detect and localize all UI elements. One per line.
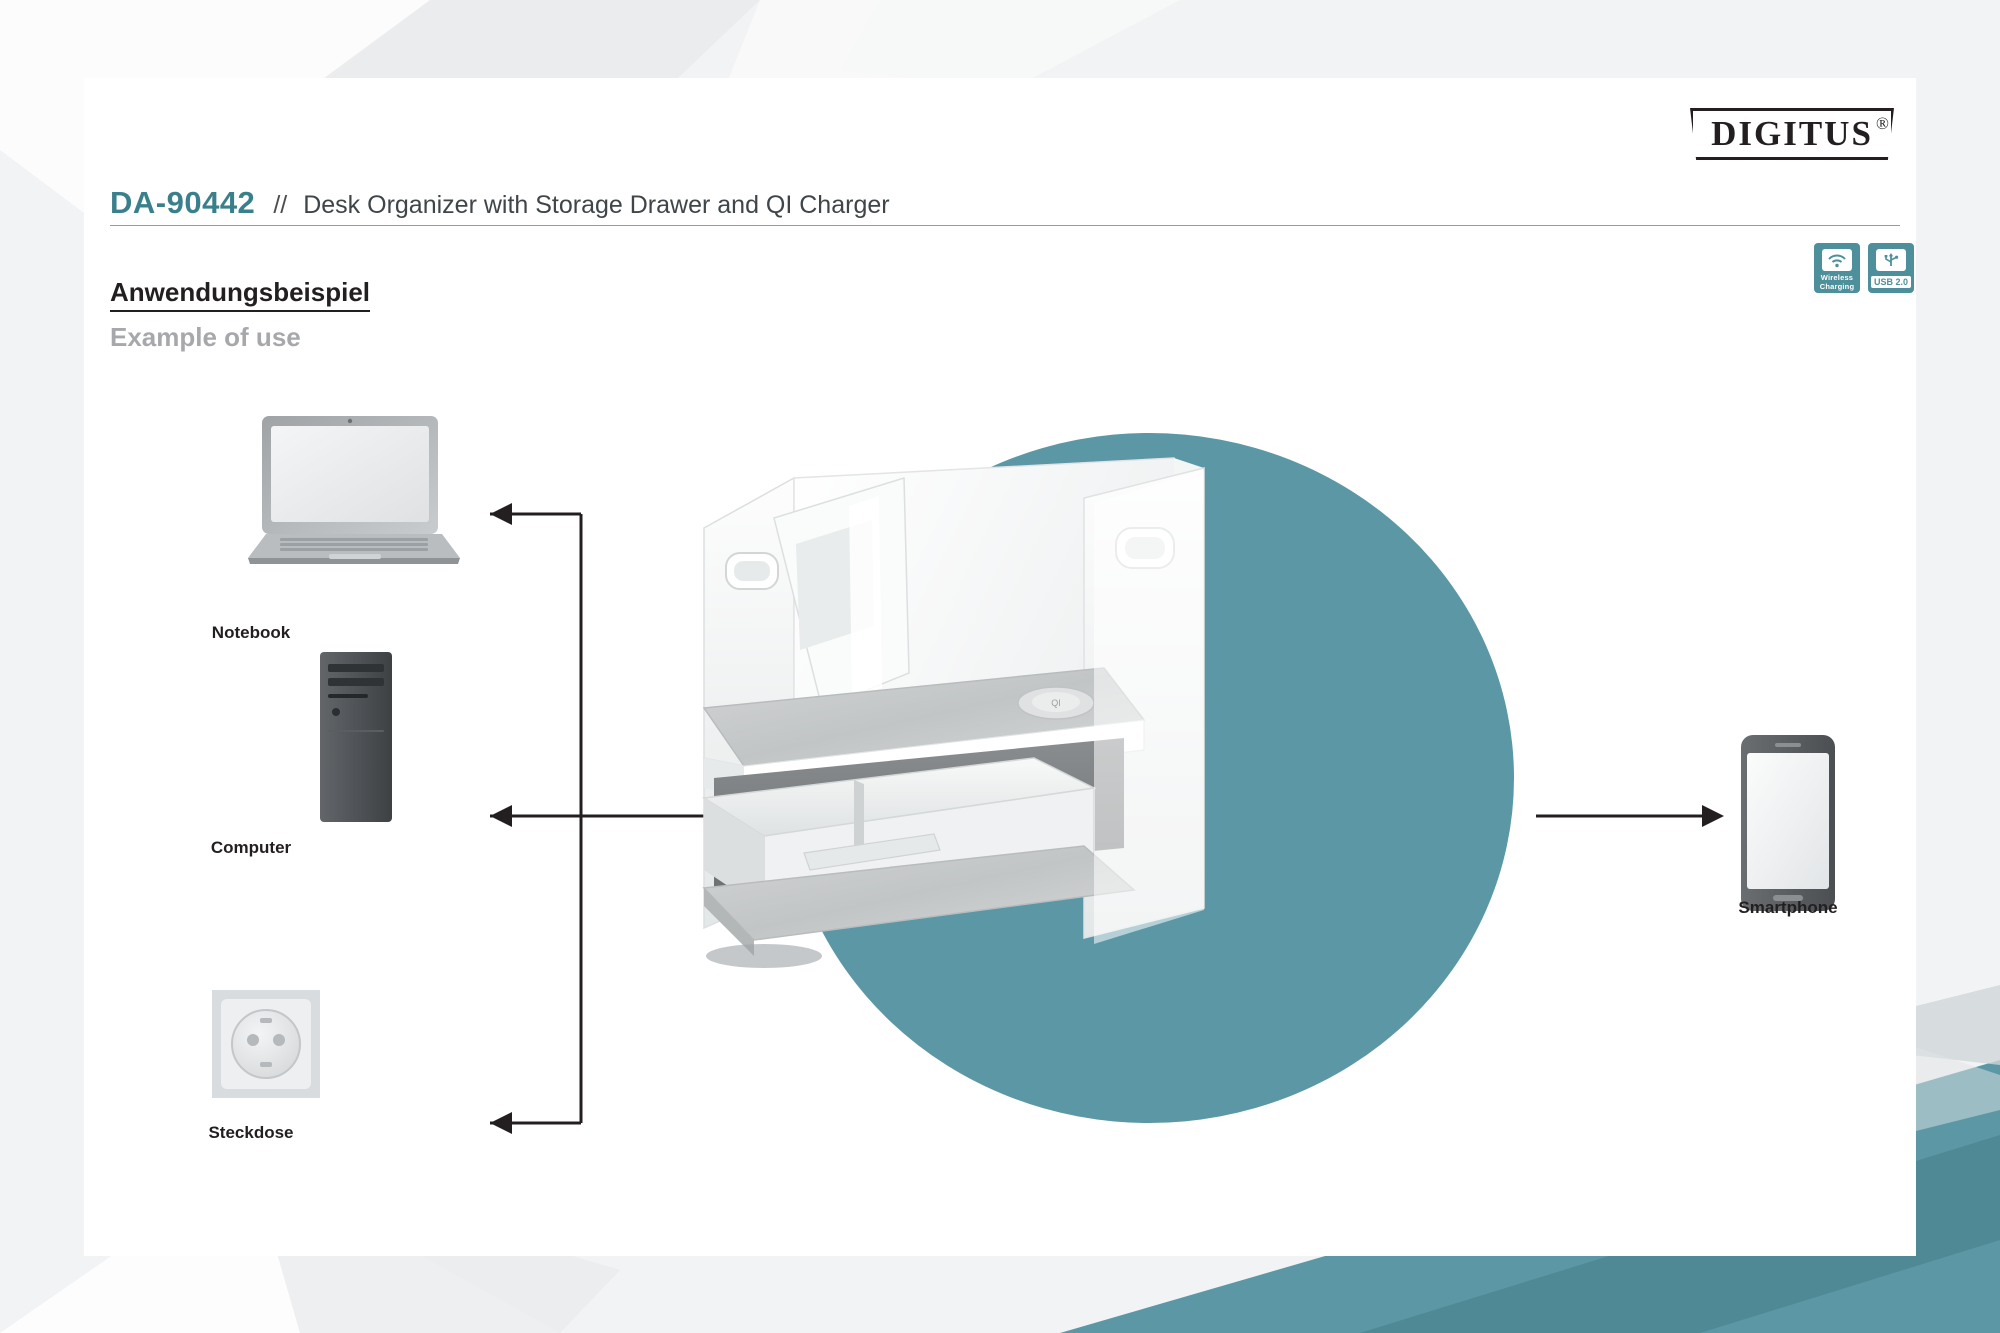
node-label-steckdose: Steckdose [141, 1123, 361, 1143]
svg-text:QI: QI [1051, 698, 1061, 708]
usage-diagram: Notebook Computer [84, 78, 1916, 1256]
node-label-computer: Computer [141, 838, 361, 858]
arrowhead-smartphone [1702, 805, 1724, 827]
power-socket-graphic [212, 990, 320, 1098]
smartphone-icon [1733, 733, 1843, 913]
node-label-smartphone: Smartphone [1678, 898, 1898, 918]
desktop-tower-icon [306, 650, 411, 825]
arrowhead-computer [490, 805, 512, 827]
desk-organizer-product-image: QI [704, 458, 1464, 1138]
node-label-notebook: Notebook [141, 623, 361, 643]
arrowhead-steckdose [490, 1112, 512, 1134]
arrowhead-notebook [490, 503, 512, 525]
laptop-icon [244, 408, 464, 568]
